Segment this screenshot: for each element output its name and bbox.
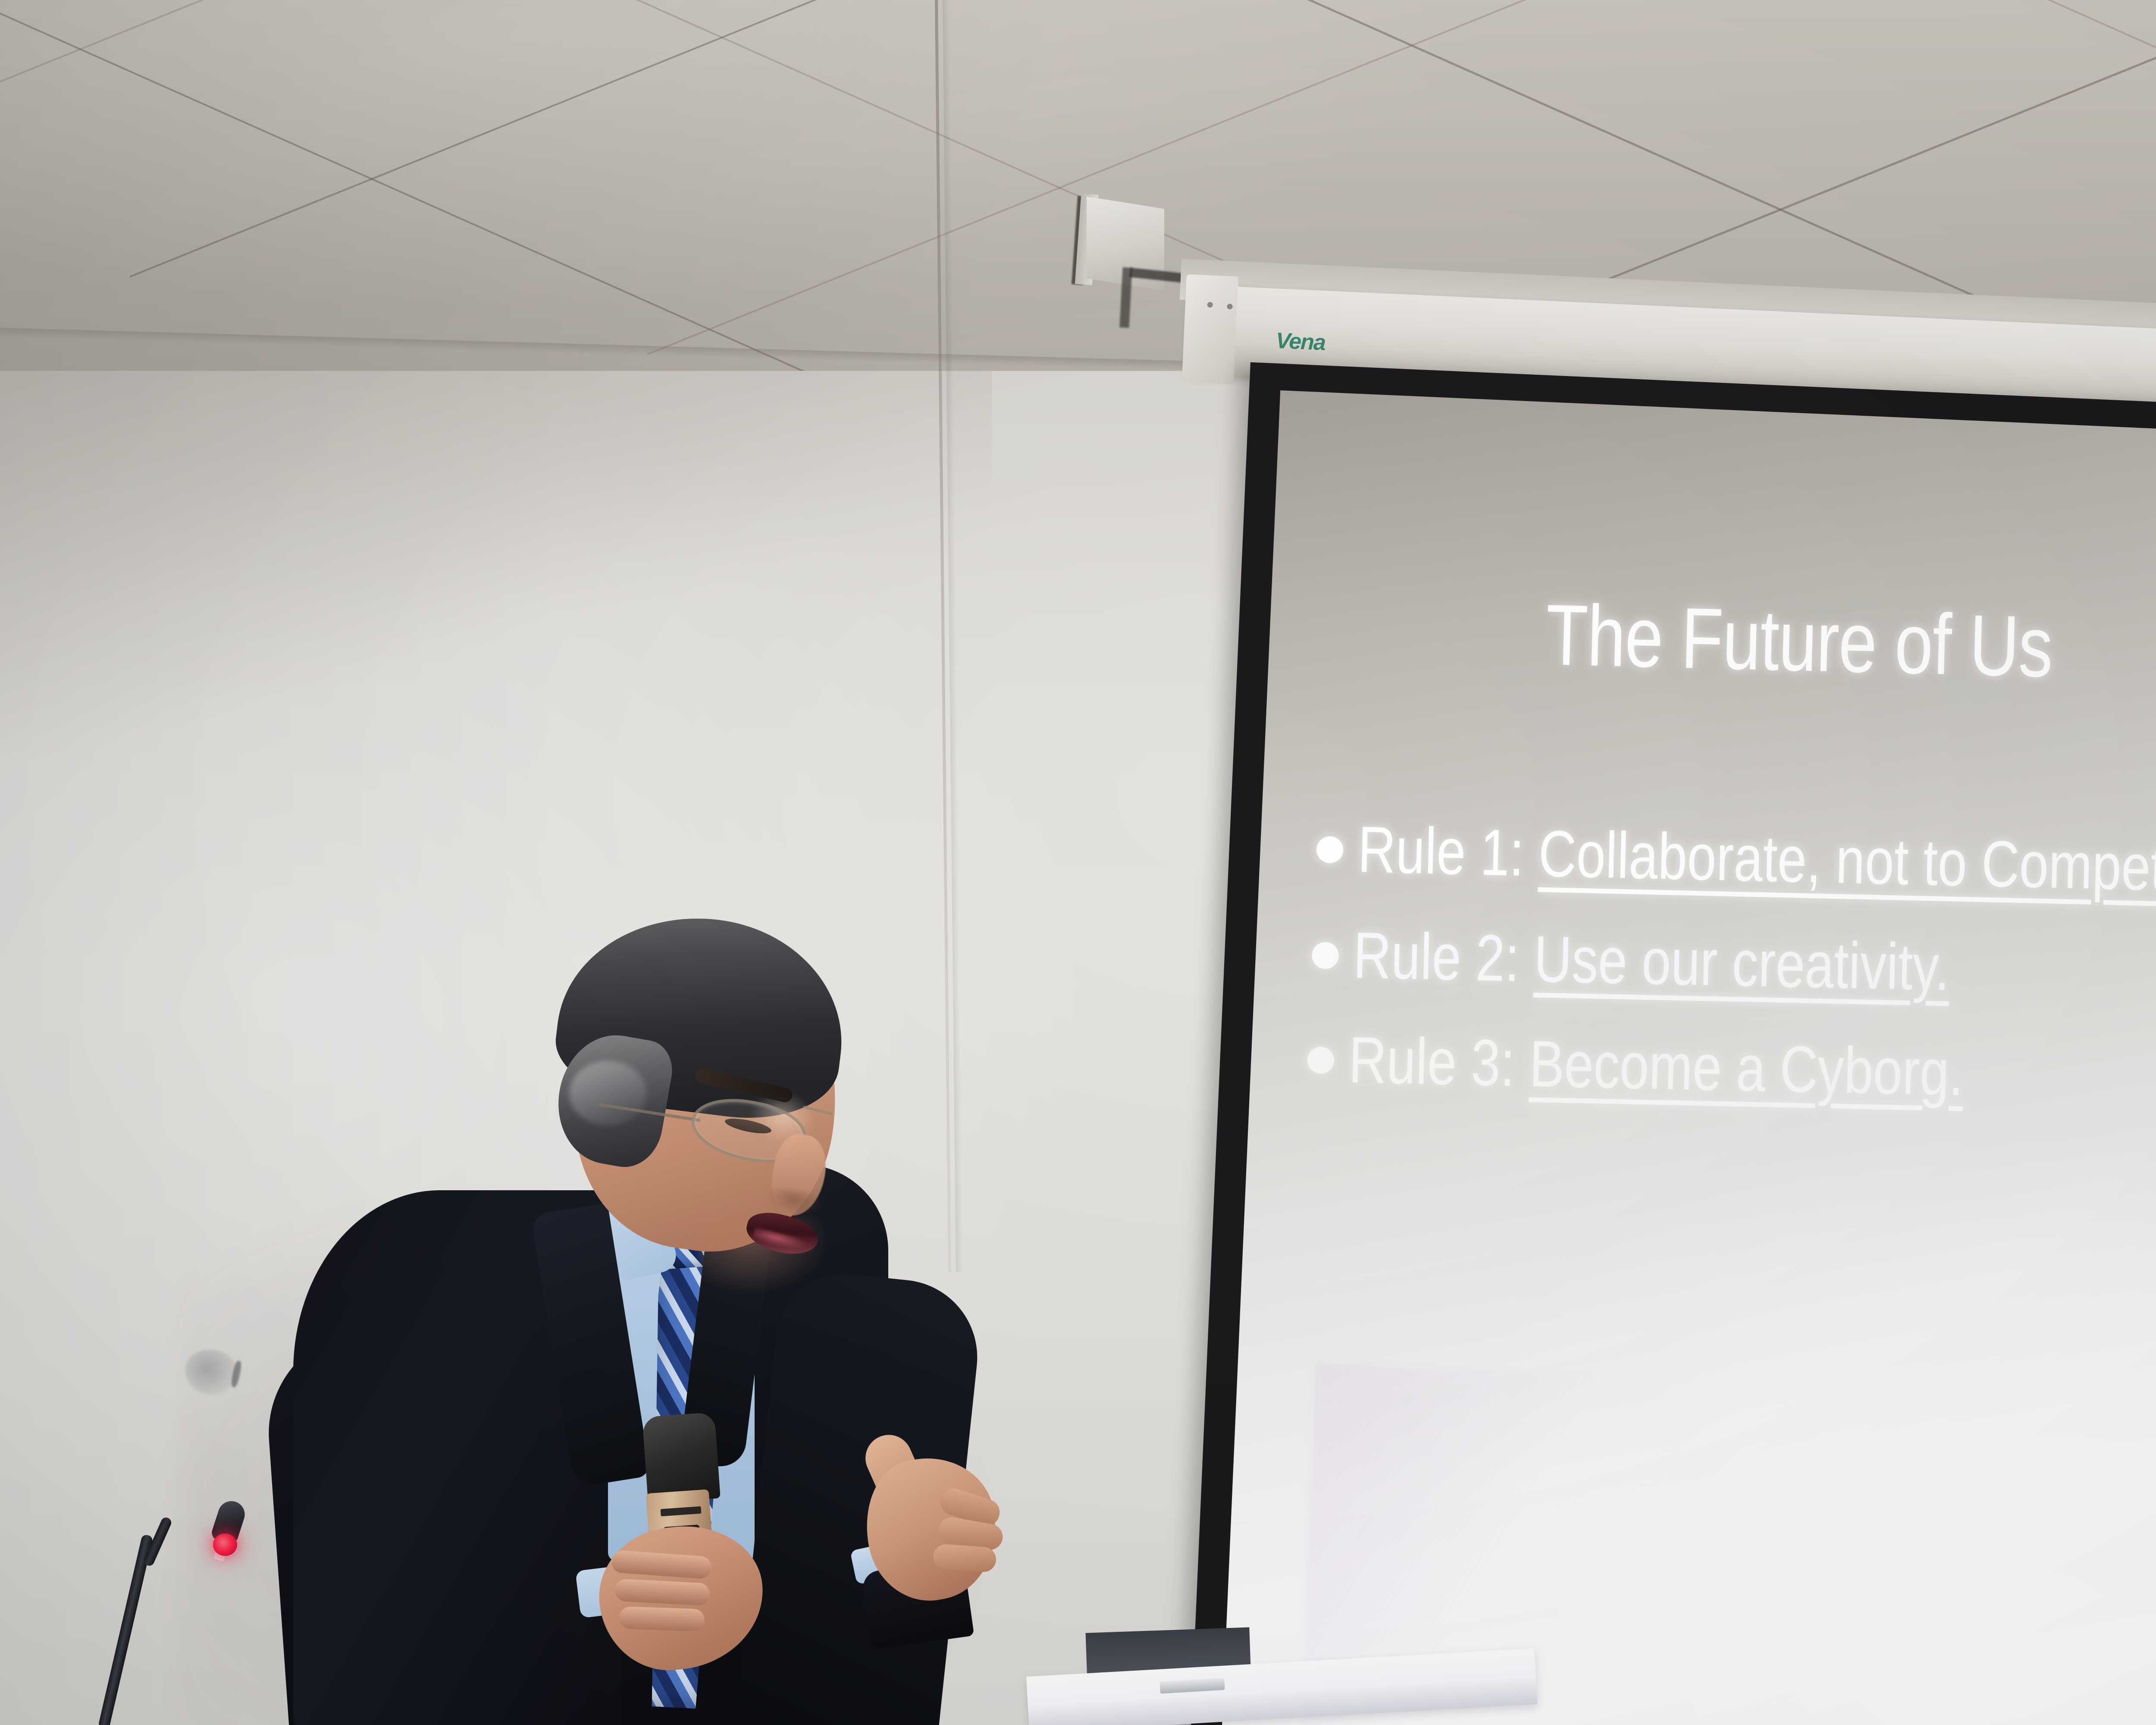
screen-valance-endcap — [1182, 274, 1238, 384]
bullet-lead: Rule 3: — [1348, 1023, 1530, 1101]
bullet-text: Rule 3: Become a Cyborg. — [1348, 1027, 1964, 1107]
bullet-underlined-text: Use our creativity. — [1533, 922, 1950, 1004]
presenter — [250, 949, 1095, 1725]
bullet-lead: Rule 1: — [1357, 813, 1539, 890]
slide-bullet-list: Rule 1: Collaborate, not to Compete. Rul… — [1305, 802, 2156, 1172]
bullet-point-icon — [1307, 1047, 1334, 1074]
microphone-head-icon — [642, 1412, 721, 1503]
bullet-text: Rule 2: Use our creativity. — [1353, 922, 1950, 1001]
bullet-text: Rule 1: Collaborate, not to Compete. — [1357, 816, 2156, 903]
slide-bullet-item: Rule 2: Use our creativity. — [1311, 921, 2156, 1015]
graying-temple — [569, 1061, 647, 1126]
slide-bullet-item: Rule 1: Collaborate, not to Compete. — [1316, 815, 2156, 911]
microphone-status-led-icon — [213, 1534, 237, 1556]
slide-title: The Future of Us — [1545, 592, 2053, 691]
bullet-point-icon — [1312, 942, 1339, 969]
finger — [619, 1606, 705, 1632]
slide-content: The Future of Us Rule 1: Collaborate, no… — [1221, 390, 2156, 1725]
slide-bullet-item: Rule 3: Become a Cyborg. — [1307, 1026, 2156, 1120]
bullet-underlined-text: Collaborate, not to Compete. — [1538, 817, 2156, 905]
projection-screen: The Future of Us Rule 1: Collaborate, no… — [1190, 362, 2156, 1725]
bullet-underlined-text: Become a Cyborg. — [1529, 1027, 1964, 1110]
finger — [932, 1543, 997, 1573]
vena-brand-logo: Vena — [1275, 328, 1326, 356]
bullet-lead: Rule 2: — [1353, 919, 1535, 996]
bullet-point-icon — [1316, 836, 1344, 863]
presentation-photo: Vena The Future of Us Rule 1: Collaborat… — [0, 0, 2156, 1725]
wall-corner-shadow — [0, 371, 992, 759]
